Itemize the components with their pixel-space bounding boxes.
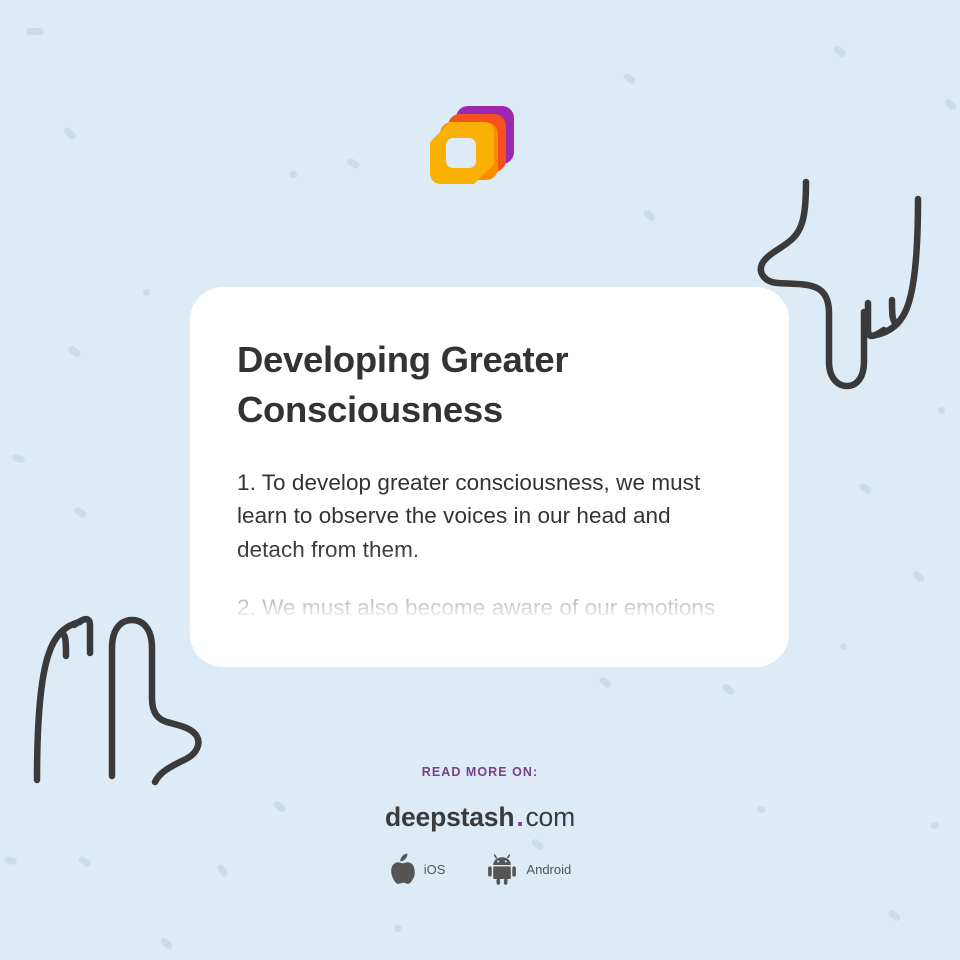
site-name-main: deepstash xyxy=(385,802,514,832)
card-paragraph-1: 1. To develop greater consciousness, we … xyxy=(237,466,742,566)
confetti-dash xyxy=(346,157,361,170)
confetti-dash xyxy=(943,98,957,112)
confetti-dash xyxy=(26,28,44,35)
pointing-hand-icon xyxy=(22,558,207,788)
confetti-dash xyxy=(832,45,846,59)
card-paragraph-2: 2. We must also become aware of our emot… xyxy=(237,591,742,658)
confetti-dash xyxy=(73,506,88,519)
confetti-dash xyxy=(721,683,735,697)
card-title: Developing Greater Consciousness xyxy=(237,335,742,436)
confetti-dash xyxy=(394,925,402,932)
site-name-tld: com xyxy=(525,802,574,832)
confetti-dash xyxy=(63,126,78,141)
confetti-dash xyxy=(622,72,636,86)
android-store-badge[interactable]: Android xyxy=(486,853,571,885)
confetti-dash xyxy=(887,909,901,923)
android-store-label: Android xyxy=(526,862,571,877)
confetti-dash xyxy=(858,482,873,495)
confetti-dash xyxy=(11,453,26,464)
confetti-dash xyxy=(143,289,150,296)
confetti-dash xyxy=(159,937,173,951)
deepstash-logo xyxy=(428,102,520,198)
site-name[interactable]: deepstash.com xyxy=(0,802,960,833)
confetti-dash xyxy=(67,345,82,358)
footer: READ MORE ON: deepstash.com iOS xyxy=(0,765,960,885)
confetti-dash xyxy=(911,570,925,584)
ios-store-badge[interactable]: iOS xyxy=(389,853,446,885)
card-content: Developing Greater Consciousness 1. To d… xyxy=(190,287,789,658)
confetti-dash xyxy=(598,676,612,690)
quote-card: Developing Greater Consciousness 1. To d… xyxy=(190,287,789,667)
app-store-badges: iOS Android xyxy=(0,853,960,885)
read-more-label: READ MORE ON: xyxy=(0,765,960,779)
site-name-dot: . xyxy=(514,802,525,832)
confetti-dash xyxy=(938,407,945,414)
apple-icon xyxy=(389,853,416,885)
android-icon xyxy=(486,853,518,885)
logo-inner-cutout xyxy=(446,138,476,168)
confetti-dash xyxy=(289,171,297,178)
pointing-hand-bottom-left-illustration xyxy=(22,558,207,788)
confetti-dash xyxy=(642,209,656,223)
confetti-dash xyxy=(840,643,847,650)
ios-store-label: iOS xyxy=(424,862,446,877)
logo-icon xyxy=(428,102,520,198)
